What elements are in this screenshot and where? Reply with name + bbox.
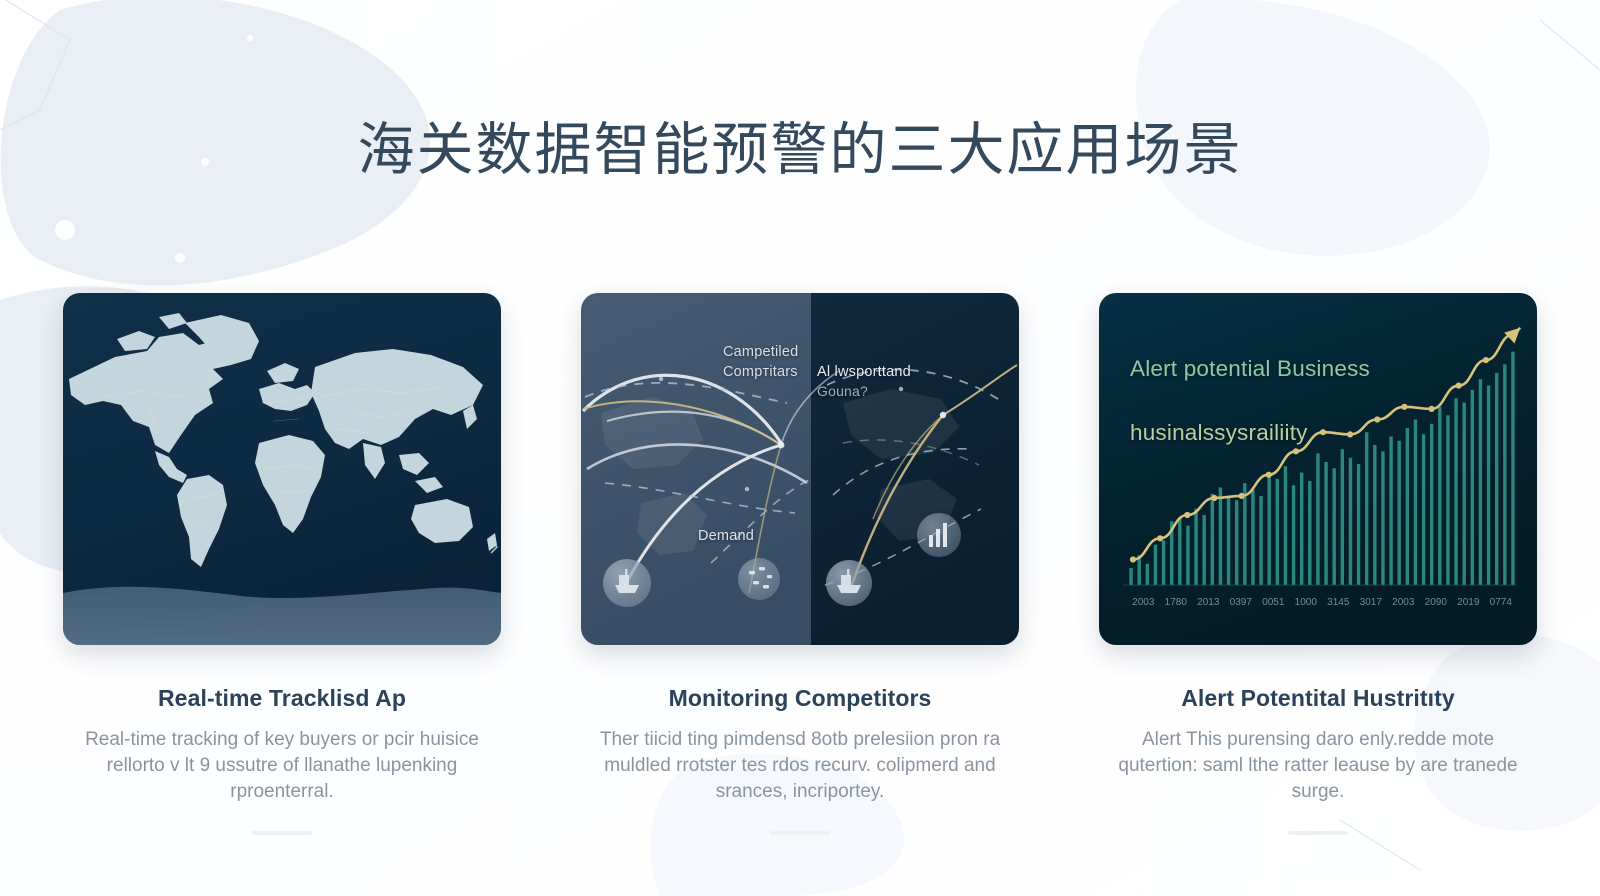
chart-headline-line2: husinalssysrailiity: [1130, 420, 1308, 445]
transport-label: Al lwsporttand Gouna?: [817, 343, 911, 421]
svg-text:0051: 0051: [1262, 597, 1285, 608]
demand-label: Demand: [698, 527, 754, 547]
transport-label-sub: Gouna?: [817, 382, 911, 401]
chart-headline-line1: Alert potential Business: [1130, 356, 1370, 381]
svg-text:2019: 2019: [1457, 597, 1480, 608]
card-title: Monitoring Competitors: [669, 685, 932, 712]
card-divider: [1288, 831, 1348, 835]
card-description: Ther tiicid ting pimdensd 8otb prelesiio…: [590, 727, 1010, 805]
scenario-card-alert-potential[interactable]: 2003178020130397005110003145301720032090…: [1099, 293, 1537, 835]
card-title: Alert Potentital Hustritıty: [1181, 685, 1455, 712]
split-network-visual: Campetiled Compтitars Al lwsporttand Gou…: [581, 293, 1019, 645]
growth-chart-visual: 2003178020130397005110003145301720032090…: [1099, 293, 1537, 645]
svg-text:2003: 2003: [1392, 597, 1415, 608]
scenario-card-monitoring-competitors[interactable]: Campetiled Compтitars Al lwsporttand Gou…: [581, 293, 1019, 835]
transport-label-main: Al lwsporttand: [817, 364, 911, 380]
scenario-card-grid: Real-time Tracklisd Ap Real-time trackin…: [63, 293, 1537, 835]
world-map-visual: [63, 293, 501, 645]
page-title: 海关数据智能预警的三大应用场景: [0, 116, 1600, 184]
card-divider: [770, 831, 830, 835]
competitors-label: Campetiled Compтitars: [723, 343, 798, 382]
chart-headline: Alert potential Business husinalssysrail…: [1130, 321, 1370, 449]
svg-text:2003: 2003: [1132, 597, 1155, 608]
svg-text:3017: 3017: [1360, 597, 1383, 608]
svg-text:2090: 2090: [1425, 597, 1448, 608]
svg-text:0774: 0774: [1490, 597, 1513, 608]
svg-text:1780: 1780: [1165, 597, 1188, 608]
card-divider: [252, 831, 312, 835]
scenario-card-realtime-tracking[interactable]: Real-time Tracklisd Ap Real-time trackin…: [63, 293, 501, 835]
card-title: Real-time Tracklisd Ap: [158, 685, 406, 712]
svg-text:2013: 2013: [1197, 597, 1220, 608]
svg-text:0397: 0397: [1230, 597, 1253, 608]
card-description: Real-time tracking of key buyers or pcir…: [72, 727, 492, 805]
svg-text:3145: 3145: [1327, 597, 1350, 608]
card-description: Alert This purensing daro enly.redde mot…: [1108, 727, 1528, 805]
svg-text:1000: 1000: [1295, 597, 1318, 608]
